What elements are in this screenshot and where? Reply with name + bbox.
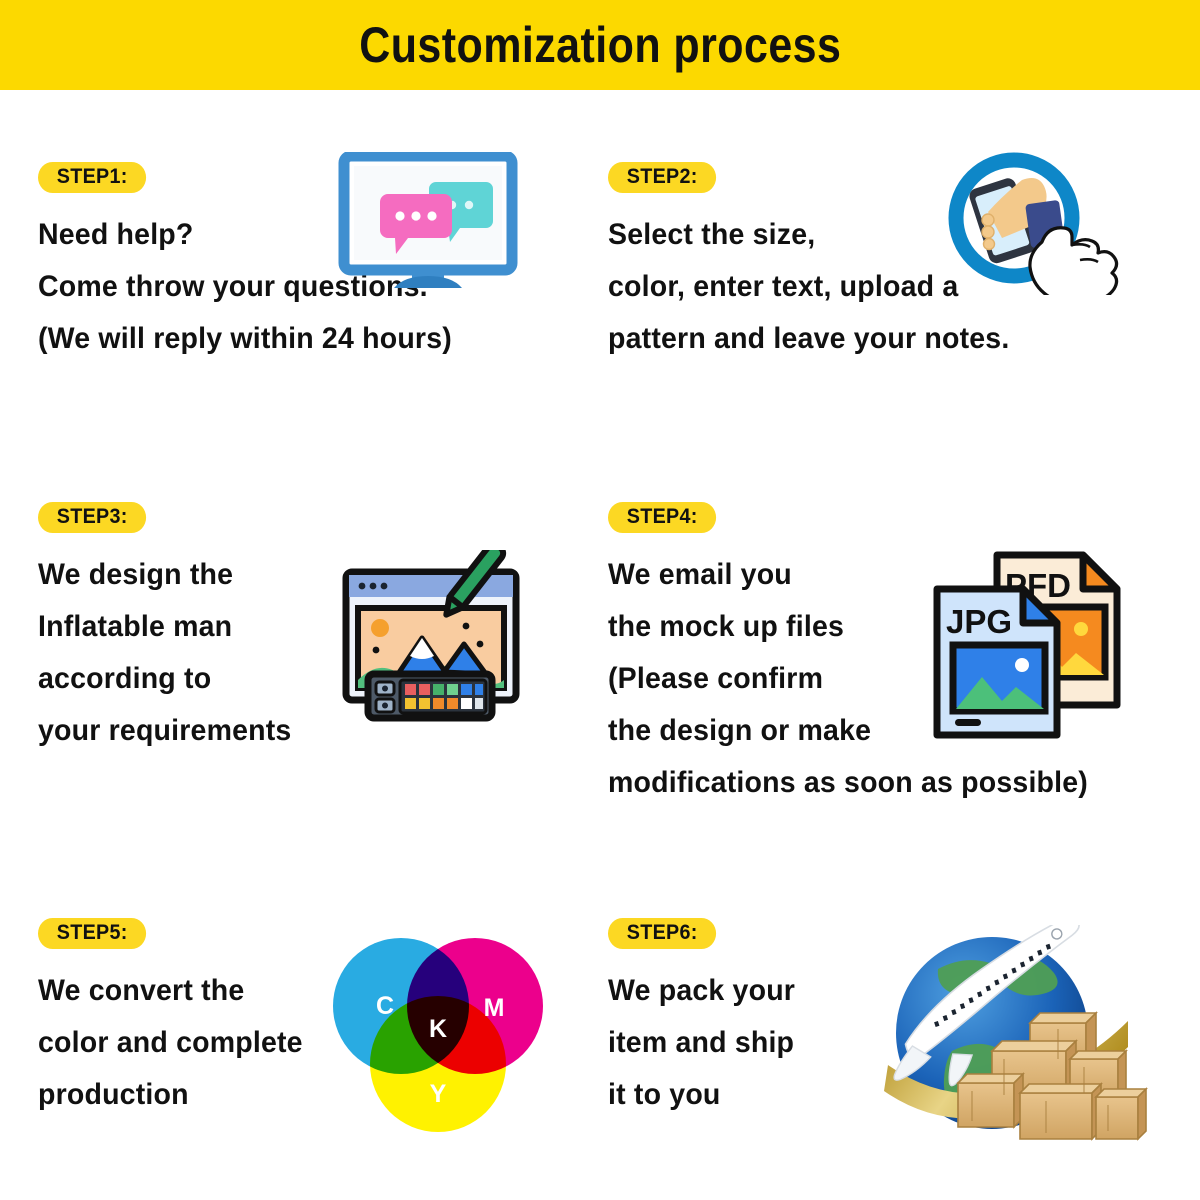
cmyk-venn-icon: C M Y K bbox=[318, 930, 558, 1135]
cmyk-label-k: K bbox=[429, 1015, 447, 1043]
file-front-label: JPG bbox=[946, 603, 1012, 640]
step-2-line-3: pattern and leave your notes. bbox=[608, 313, 1154, 365]
step-1-line-3: (We will reply within 24 hours) bbox=[38, 313, 570, 365]
step-4-line-5: modifications as soon as possible) bbox=[608, 757, 1154, 809]
infographic-page: Customization process STEP1: Need help? … bbox=[0, 0, 1200, 1200]
step-badge-4: STEP4: bbox=[608, 502, 716, 533]
design-editor-icon bbox=[340, 550, 555, 735]
file-mockups-icon: PFD JPG bbox=[925, 545, 1140, 745]
cmyk-label-c: C bbox=[376, 992, 394, 1020]
header-banner: Customization process bbox=[0, 0, 1200, 90]
monitor-chat-icon bbox=[338, 152, 518, 292]
cmyk-label-y: Y bbox=[430, 1080, 447, 1108]
steps-grid: STEP1: Need help? Come throw your questi… bbox=[0, 90, 1200, 1200]
globe-shipping-icon bbox=[880, 925, 1155, 1150]
step-badge-2: STEP2: bbox=[608, 162, 716, 193]
tap-phone-icon bbox=[930, 150, 1130, 295]
step-badge-6: STEP6: bbox=[608, 918, 716, 949]
cmyk-label-m: M bbox=[484, 994, 505, 1022]
step-badge-1: STEP1: bbox=[38, 162, 146, 193]
page-title: Customization process bbox=[359, 16, 841, 74]
step-badge-3: STEP3: bbox=[38, 502, 146, 533]
step-badge-5: STEP5: bbox=[38, 918, 146, 949]
